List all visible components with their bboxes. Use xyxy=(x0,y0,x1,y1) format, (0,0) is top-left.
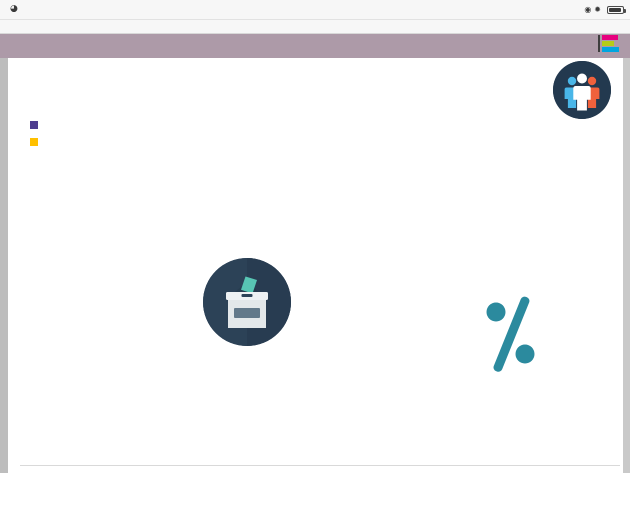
legend-swatch-purple xyxy=(30,121,38,129)
legend-item-80 xyxy=(30,133,43,150)
location-icon: ◉ xyxy=(584,5,591,14)
chart-legend xyxy=(30,116,43,150)
chart-baseline xyxy=(20,465,620,466)
party-logo-strip xyxy=(20,468,620,507)
bluetooth-icon: ✹ xyxy=(594,5,601,14)
status-bar-right: ◉ ✹ xyxy=(584,5,624,14)
legend-item-50 xyxy=(30,116,43,133)
battery-icon xyxy=(607,6,624,14)
prorata-logo xyxy=(594,33,620,52)
status-bar-left: ◕ xyxy=(6,5,18,14)
people-group-icon xyxy=(553,61,611,119)
brand-bars-icon xyxy=(598,35,620,52)
ios-status-bar: ◕ ◉ ✹ xyxy=(0,0,630,20)
wifi-icon: ◕ xyxy=(10,5,18,14)
browser-url-label[interactable] xyxy=(0,20,630,34)
brand-header-band xyxy=(0,34,630,58)
right-rail-decoration xyxy=(623,58,630,473)
slide-canvas xyxy=(0,34,630,473)
title-row xyxy=(18,62,578,98)
legend-swatch-yellow xyxy=(30,138,38,146)
stacked-bar-chart xyxy=(20,164,620,466)
left-rail-decoration xyxy=(0,34,8,473)
